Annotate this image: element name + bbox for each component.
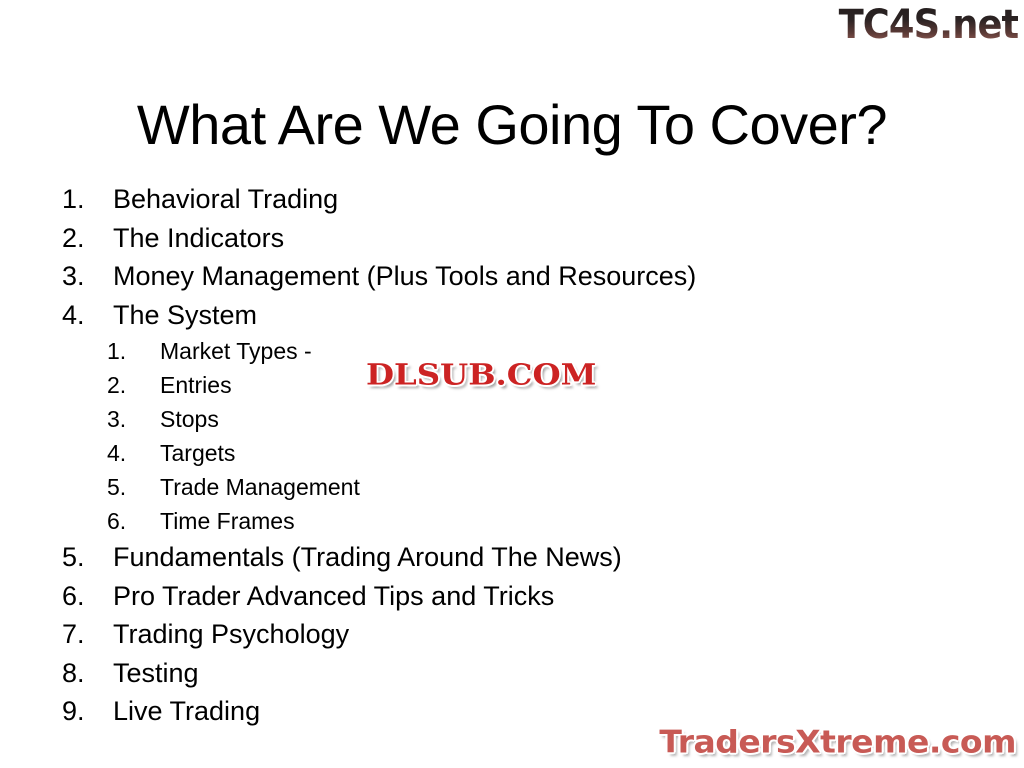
slide-canvas: TC4S.net What Are We Going To Cover? 1. … bbox=[0, 0, 1024, 768]
list-item-label: Pro Trader Advanced Tips and Tricks bbox=[113, 577, 554, 616]
sublist-item-label: Entries bbox=[108, 368, 232, 402]
sublist-item-label: Time Frames bbox=[108, 504, 295, 538]
list-item-label: Behavioral Trading bbox=[113, 180, 338, 219]
list-item-label: Testing bbox=[113, 654, 199, 693]
list-item-label: Trading Psychology bbox=[113, 615, 349, 654]
list-item-number: 4. bbox=[55, 296, 113, 335]
list-item-label: The Indicators bbox=[113, 219, 284, 258]
list-item: 5. Fundamentals (Trading Around The News… bbox=[55, 538, 955, 577]
list-item: 7. Trading Psychology bbox=[55, 615, 955, 654]
list-item-number: 8. bbox=[55, 654, 113, 693]
list-item: 1. Behavioral Trading bbox=[55, 180, 955, 219]
list-item-number: 3. bbox=[55, 257, 113, 296]
list-item-number: 1. bbox=[55, 180, 113, 219]
list-item-label: Money Management (Plus Tools and Resourc… bbox=[113, 257, 696, 296]
sublist-item-number: 2. bbox=[55, 368, 108, 402]
list-item-number: 9. bbox=[55, 692, 113, 731]
list-item: 2. The Indicators bbox=[55, 219, 955, 258]
list-item-number: 2. bbox=[55, 219, 113, 258]
list-item: 4. The System bbox=[55, 296, 955, 335]
list-item-number: 7. bbox=[55, 615, 113, 654]
list-item-number: 5. bbox=[55, 538, 113, 577]
sublist-item: 4. Targets bbox=[55, 436, 955, 470]
list-item-label: Live Trading bbox=[113, 692, 260, 731]
sublist-item-label: Trade Management bbox=[108, 470, 360, 504]
list-item: 3. Money Management (Plus Tools and Reso… bbox=[55, 257, 955, 296]
list-item-label: The System bbox=[113, 296, 257, 335]
sublist-item-label: Stops bbox=[108, 402, 219, 436]
sublist-item-label: Targets bbox=[108, 436, 235, 470]
list-item-label: Fundamentals (Trading Around The News) bbox=[113, 538, 622, 577]
watermark-dlsub: DLSUB.COM bbox=[366, 358, 596, 392]
sublist-item: 5. Trade Management bbox=[55, 470, 955, 504]
sublist-item-number: 5. bbox=[55, 470, 108, 504]
outline-list: 1. Behavioral Trading 2. The Indicators … bbox=[55, 180, 955, 731]
sublist-item-number: 4. bbox=[55, 436, 108, 470]
list-item-number: 6. bbox=[55, 577, 113, 616]
page-title: What Are We Going To Cover? bbox=[0, 96, 1024, 155]
list-item: 6. Pro Trader Advanced Tips and Tricks bbox=[55, 577, 955, 616]
watermark-tc4s: TC4S.net bbox=[838, 2, 1018, 48]
watermark-tradersxtreme: TradersXtreme.com bbox=[659, 723, 1016, 760]
sublist-item-label: Market Types - bbox=[108, 334, 312, 368]
sublist-item-number: 1. bbox=[55, 334, 108, 368]
sublist-item: 3. Stops bbox=[55, 402, 955, 436]
sublist-item-number: 3. bbox=[55, 402, 108, 436]
sublist-item: 6. Time Frames bbox=[55, 504, 955, 538]
list-item: 8. Testing bbox=[55, 654, 955, 693]
sublist-item-number: 6. bbox=[55, 504, 108, 538]
